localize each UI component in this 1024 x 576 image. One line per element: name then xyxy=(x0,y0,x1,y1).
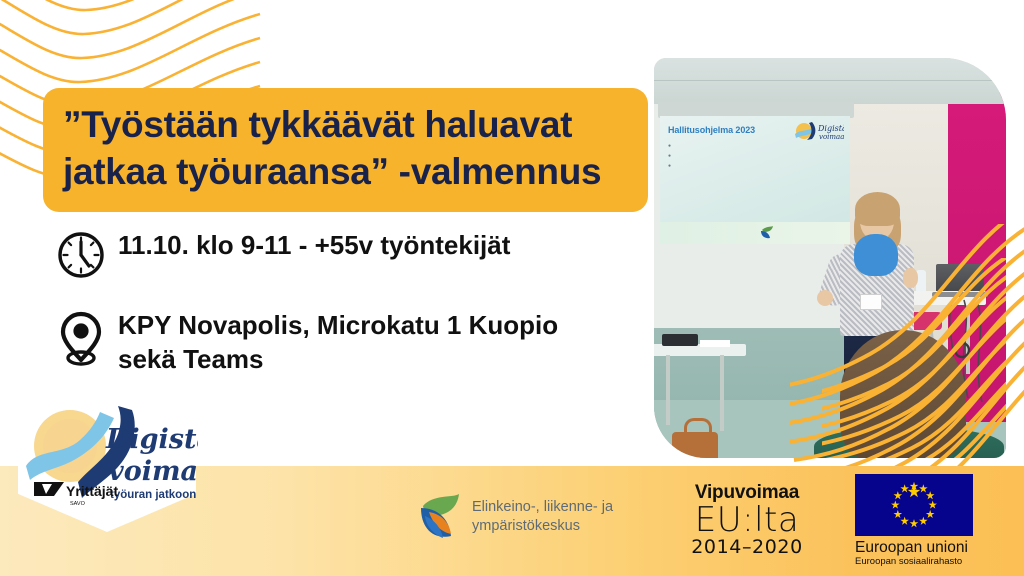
vipuvoimaa-eulta: EU:lta xyxy=(676,503,818,538)
ely-leaf-icon xyxy=(415,492,463,542)
eu-subtitle: Euroopan sosiaalirahasto xyxy=(855,557,983,567)
ely-keskus-logo: Elinkeino-, liikenne- ja ympäristökeskus xyxy=(415,492,613,542)
event-place-row: KPY Novapolis, Microkatu 1 Kuopio sekä T… xyxy=(52,308,558,377)
svg-text:Digistä: Digistä xyxy=(817,124,844,133)
slide-bullets: ● ● ● xyxy=(668,143,836,173)
logo-region: SAVO xyxy=(70,501,86,507)
photo-content: Hallitusohjelma 2023 Digistä voimaa ● xyxy=(654,58,1006,458)
eu-title: Euroopan unioni xyxy=(855,539,983,556)
bullet-dot-icon: ● xyxy=(668,163,671,169)
photo-table-folder xyxy=(662,334,698,346)
svg-text:voimaa: voimaa xyxy=(819,133,844,141)
photo-ceiling xyxy=(654,58,1006,104)
bullet-text xyxy=(674,153,836,159)
logo-tagline: työuran jatkoon xyxy=(110,489,196,501)
slide-brand-logo: Digistä voimaa xyxy=(792,120,844,144)
slide-title: Hallitusohjelma 2023 xyxy=(668,125,755,135)
eu-flag-icon xyxy=(855,474,973,536)
clock-icon xyxy=(52,228,110,280)
bullet-text xyxy=(674,163,836,169)
ely-keskus-text: Elinkeino-, liikenne- ja ympäristökeskus xyxy=(472,498,613,535)
european-union-logo: Euroopan unioni Euroopan sosiaalirahasto xyxy=(855,474,983,567)
logo-association: Yrittäjät xyxy=(66,483,118,499)
poster-canvas: ”Työstään tykkäävät haluavat jatkaa työu… xyxy=(0,0,1024,576)
vipuvoimaa-years: 2014–2020 xyxy=(676,536,818,558)
ely-line-1: Elinkeino-, liikenne- ja xyxy=(472,498,613,517)
event-time-row: 11.10. klo 9-11 - +55v työntekijät xyxy=(52,228,510,280)
ely-line-2: ympäristökeskus xyxy=(472,517,613,536)
map-pin-icon xyxy=(52,308,110,368)
event-time-text: 11.10. klo 9-11 - +55v työntekijät xyxy=(110,228,510,262)
presentation-slide: Hallitusohjelma 2023 Digistä voimaa ● xyxy=(660,116,850,244)
title-line-2: jatkaa työuraansa” -valmennus xyxy=(63,149,628,196)
seminar-photo: Hallitusohjelma 2023 Digistä voimaa ● xyxy=(654,58,1006,458)
logo-word-2: voimaa xyxy=(108,456,198,487)
photo-front-table-leg xyxy=(666,355,670,425)
title-banner: ”Työstään tykkäävät haluavat jatkaa työu… xyxy=(43,88,648,212)
slide-bullet: ● xyxy=(668,143,836,149)
vipuvoimaa-eulta-logo: Vipuvoimaa EU:lta 2014–2020 xyxy=(676,482,818,558)
photo-bag xyxy=(672,432,718,458)
slide-footer xyxy=(660,222,850,244)
photo-table-paper xyxy=(700,340,730,347)
digista-voimaa-logo: Digistä voimaa työuran jatkoon Yrittäjät… xyxy=(18,404,198,516)
slide-ely-mark xyxy=(760,225,774,240)
photo-speaker-hair xyxy=(855,192,900,226)
bullet-dot-icon: ● xyxy=(668,143,671,149)
event-place-line-1: KPY Novapolis, Microkatu 1 Kuopio xyxy=(118,308,558,342)
photo-front-table-leg xyxy=(720,355,724,431)
slide-bullet: ● xyxy=(668,153,836,159)
bullet-dot-icon: ● xyxy=(668,153,671,159)
event-place-text: KPY Novapolis, Microkatu 1 Kuopio sekä T… xyxy=(110,308,558,377)
bullet-text xyxy=(674,143,836,149)
wave-decoration-photo xyxy=(822,258,1006,458)
event-place-line-2: sekä Teams xyxy=(118,342,558,376)
slide-bullet: ● xyxy=(668,163,836,169)
logo-word-1: Digistä xyxy=(105,424,198,455)
title-line-1: ”Työstään tykkäävät haluavat xyxy=(63,102,628,149)
